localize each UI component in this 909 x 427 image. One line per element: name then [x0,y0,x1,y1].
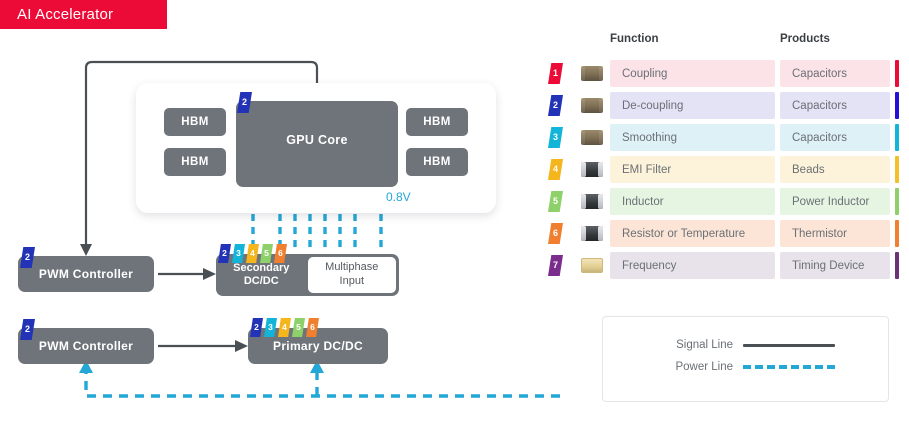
pwm-controller-label: PWM Controller [39,339,133,353]
legend-row-signal: Signal Line [603,334,888,356]
badge-number: 5 [264,249,269,258]
table-cell-product: Thermistor [780,220,890,247]
badge-marker-6: 6 [548,223,563,244]
table-cell-product: Timing Device [780,252,890,279]
table-cell-product: Capacitors [780,92,890,119]
badge-number: 1 [553,69,558,78]
table-cell-function: Coupling [610,60,775,87]
signal-line-swatch [743,344,835,347]
badge-number: 6 [278,249,283,258]
badge-number: 6 [553,229,558,238]
secondary-dcdc-label-line2: DC/DC [244,275,279,288]
badge-marker-1: 1 [548,63,563,84]
legend-row-power: Power Line [603,356,888,378]
badge-marker-6-primary: 6 [306,318,319,337]
table-header-function: Function [610,33,780,45]
badge-number: 3 [268,323,273,332]
badge-number: 5 [553,197,558,206]
table-cell-function: EMI Filter [610,156,775,183]
legend-box: Signal Line Power Line [602,316,889,402]
table-row: 1CouplingCapacitors [548,60,900,87]
component-dark-icon [581,226,603,241]
badge-marker-2-secondary: 2 [218,244,231,263]
component-table: Function Products 1CouplingCapacitors2De… [548,33,900,284]
badge-cell: 7 [548,255,574,276]
table-body: 1CouplingCapacitors2De-couplingCapacitor… [548,60,900,279]
component-tan-icon [581,258,603,273]
table-header-products: Products [780,33,890,45]
badge-cell: 4 [548,159,574,180]
badge-marker-2-primary: 2 [250,318,263,337]
pwm-controller-label: PWM Controller [39,267,133,281]
component-mlcc-icon [581,98,603,113]
signal-arrow-primary [235,340,248,352]
table-row: 3SmoothingCapacitors [548,124,900,151]
badge-number: 2 [222,249,227,258]
power-line-bus-left [86,372,560,396]
row-edge-bar [895,60,899,87]
hbm-block-top-right: HBM [406,108,468,136]
table-row: 6Resistor or TemperatureThermistor [548,220,900,247]
table-cell-product: Capacitors [780,60,890,87]
multiphase-input-label-line1: Multiphase [325,261,378,275]
badge-cell: 5 [548,191,574,212]
table-cell-function: Resistor or Temperature [610,220,775,247]
badge-number: 2 [553,101,558,110]
badge-number: 6 [310,323,315,332]
component-dark-icon [581,162,603,177]
component-photo-cell [574,194,610,209]
badge-number: 3 [236,249,241,258]
table-cell-product: Capacitors [780,124,890,151]
badge-number: 7 [553,261,558,270]
table-cell-function: De-coupling [610,92,775,119]
badge-number: 3 [553,133,558,142]
badge-cell: 2 [548,95,574,116]
table-cell-function: Smoothing [610,124,775,151]
primary-dcdc-label: Primary DC/DC [273,339,363,353]
badge-marker-6-secondary: 6 [274,244,287,263]
badge-marker-5-primary: 5 [292,318,305,337]
badge-marker-3-secondary: 3 [232,244,245,263]
pwm-controller-top-block: PWM Controller [18,256,154,292]
power-line-swatch [743,365,835,369]
table-row: 4EMI FilterBeads [548,156,900,183]
badge-marker-5: 5 [548,191,563,212]
badge-number: 4 [553,165,558,174]
badge-cell: 3 [548,127,574,148]
hbm-label: HBM [423,156,450,168]
legend-label-signal: Signal Line [603,339,743,351]
badge-number: 5 [296,323,301,332]
table-row: 5InductorPower Inductor [548,188,900,215]
table-cell-function: Frequency [610,252,775,279]
row-edge-bar [895,156,899,183]
hbm-block-bottom-right: HBM [406,148,468,176]
hbm-block-top-left: HBM [164,108,226,136]
component-dark-icon [581,194,603,209]
primary-dcdc-badge-row: 2 3 4 5 6 [250,318,319,337]
hbm-label: HBM [423,116,450,128]
badge-number: 2 [254,323,259,332]
row-edge-bar [895,220,899,247]
badge-marker-3-primary: 3 [264,318,277,337]
badge-marker-4: 4 [548,159,563,180]
hbm-label: HBM [181,116,208,128]
table-row: 7FrequencyTiming Device [548,252,900,279]
legend-label-power: Power Line [603,361,743,373]
table-cell-function: Inductor [610,188,775,215]
pwm-controller-bottom-block: PWM Controller [18,328,154,364]
hbm-label: HBM [181,156,208,168]
badge-number: 4 [250,249,255,258]
table-cell-product: Power Inductor [780,188,890,215]
secondary-dcdc-badge-row: 2 3 4 5 6 [218,244,287,263]
table-header-row: Function Products [548,33,900,60]
voltage-label-0-8v: 0.8V [386,190,411,204]
component-photo-cell [574,258,610,273]
badge-marker-2: 2 [548,95,563,116]
hbm-block-bottom-left: HBM [164,148,226,176]
row-edge-bar [895,188,899,215]
component-photo-cell [574,162,610,177]
badge-cell: 1 [548,63,574,84]
signal-arrow-pwm-top [80,244,92,256]
badge-marker-7: 7 [548,255,563,276]
badge-marker-3: 3 [548,127,563,148]
component-photo-cell [574,226,610,241]
component-photo-cell [574,66,610,81]
signal-arrow-secondary [203,268,216,280]
badge-marker-5-secondary: 5 [260,244,273,263]
gpu-core-label: GPU Core [286,133,347,147]
row-edge-bar [895,252,899,279]
row-edge-bar [895,92,899,119]
badge-number: 2 [25,325,30,334]
page-title: AI Accelerator [17,6,113,23]
page-title-banner: AI Accelerator [0,0,167,29]
badge-number: 4 [282,323,287,332]
row-edge-bar [895,124,899,151]
badge-marker-4-secondary: 4 [246,244,259,263]
badge-number: 2 [242,98,247,107]
component-mlcc-icon [581,66,603,81]
badge-number: 2 [25,253,30,262]
gpu-core-block: GPU Core [236,101,398,187]
secondary-dcdc-label-line1: Secondary [233,262,289,275]
multiphase-input-block: Multiphase Input [308,257,396,293]
table-cell-product: Beads [780,156,890,183]
component-photo-cell [574,98,610,113]
component-photo-cell [574,130,610,145]
badge-cell: 6 [548,223,574,244]
component-mlcc-icon [581,130,603,145]
table-row: 2De-couplingCapacitors [548,92,900,119]
badge-marker-4-primary: 4 [278,318,291,337]
multiphase-input-label-line2: Input [340,275,364,289]
